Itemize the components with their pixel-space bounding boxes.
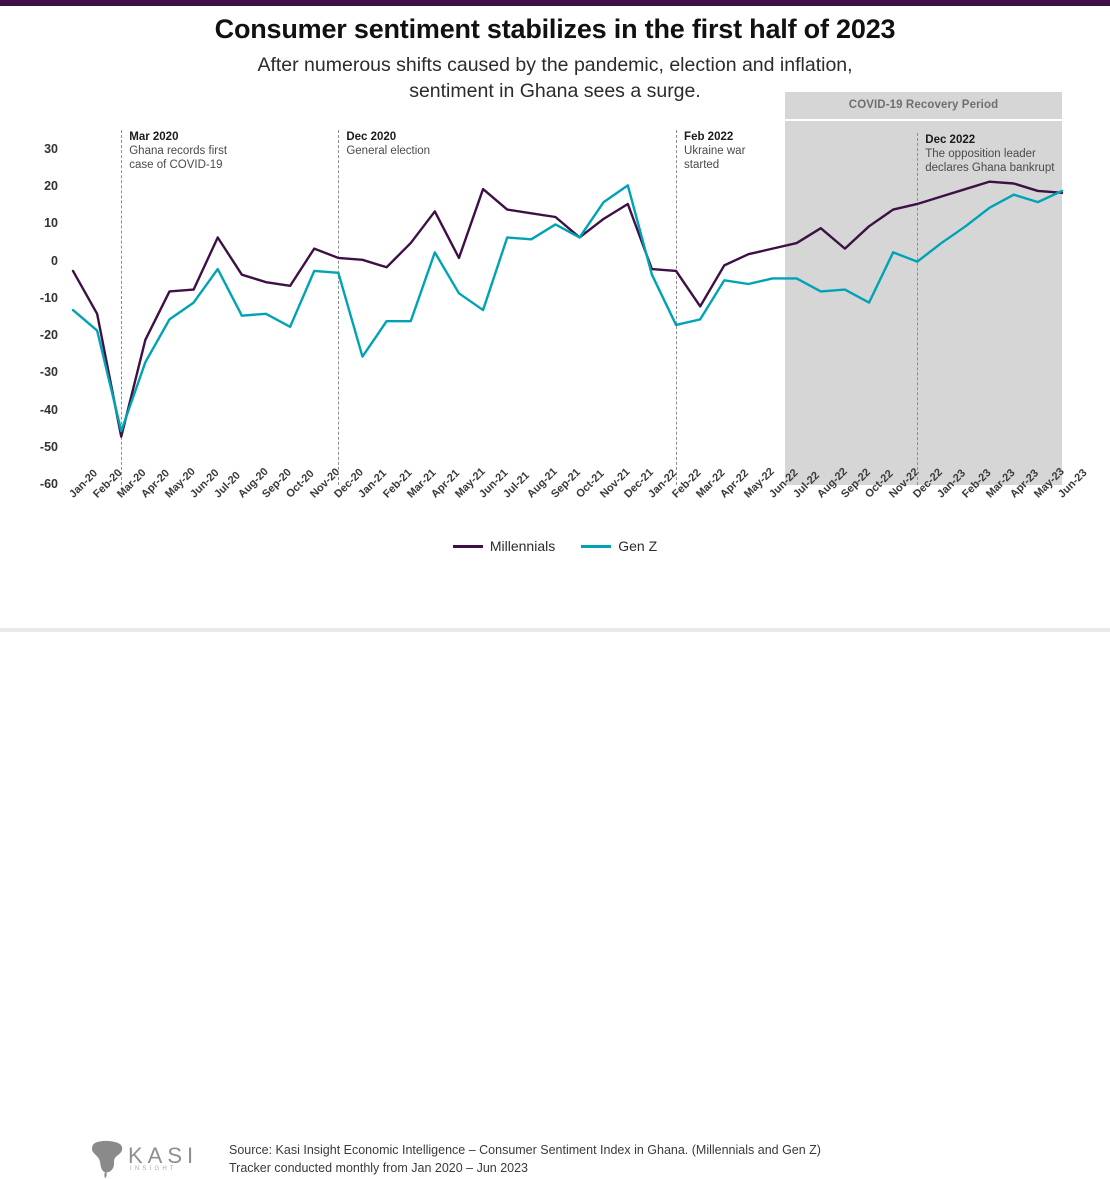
source-note: Source: Kasi Insight Economic Intelligen… [229,1141,969,1177]
source-line-2: Tracker conducted monthly from Jan 2020 … [229,1159,969,1177]
series-line-gen-z [73,185,1062,431]
series-line-millennials [73,182,1062,437]
legend-item-gen-z[interactable]: Gen Z [581,538,657,554]
legend-swatch [453,545,483,548]
legend-label: Gen Z [618,538,657,554]
kasi-logo-subtext: INSIGHT [130,1166,177,1172]
legend-swatch [581,545,611,548]
legend-item-millennials[interactable]: Millennials [453,538,555,554]
source-line-1: Source: Kasi Insight Economic Intelligen… [229,1141,969,1159]
footer: KASI INSIGHT Source: Kasi Insight Econom… [0,565,1110,632]
chart-legend: MillennialsGen Z [0,538,1110,554]
legend-label: Millennials [490,538,555,554]
bottom-bar [0,628,1110,632]
